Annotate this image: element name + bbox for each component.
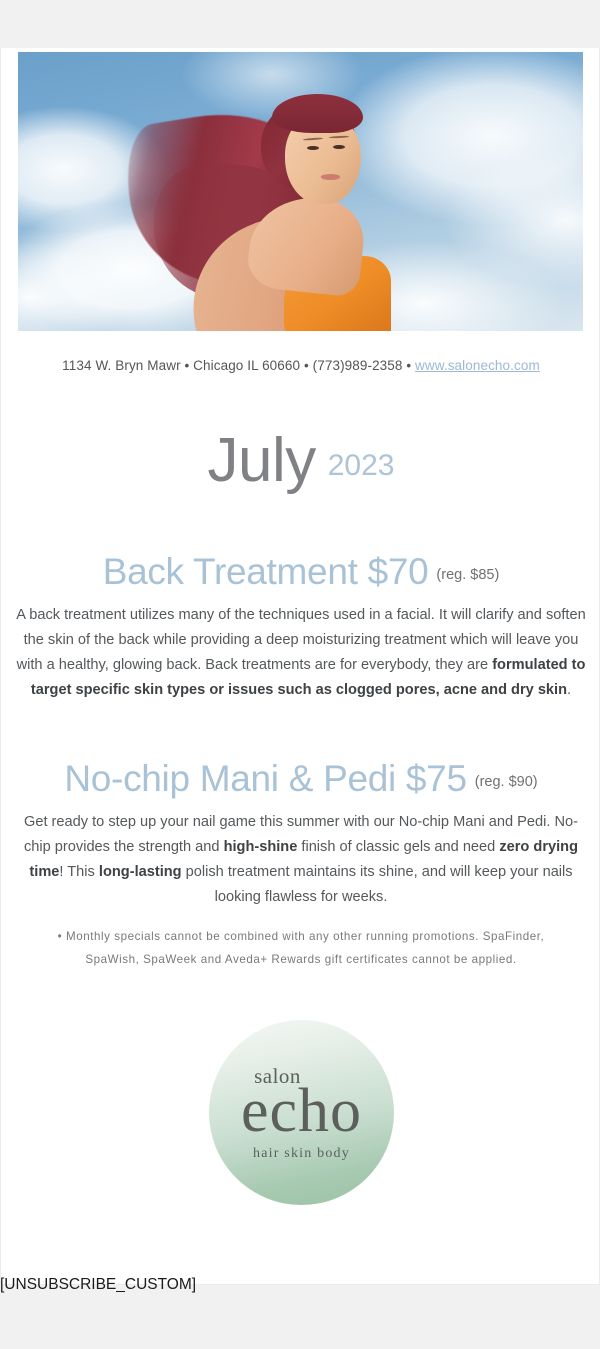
hero-lips [321, 174, 340, 180]
fineprint-disclaimer: • Monthly specials cannot be combined wi… [1, 925, 600, 971]
issue-month: July [207, 426, 315, 495]
email-preview-page: 1134 W. Bryn Mawr • Chicago IL 60660 • (… [0, 0, 600, 1349]
contact-address: 1134 W. Bryn Mawr • Chicago IL 60660 • (… [62, 358, 415, 373]
hero-image [18, 52, 583, 331]
logo-tagline: hair skin body [253, 1146, 350, 1162]
offer-regular-price: (reg. $85) [436, 567, 499, 583]
offer-heading: Back Treatment $70(reg. $85) [1, 551, 600, 593]
salon-echo-logo: salon echo hair skin body [209, 1020, 394, 1205]
offer-text-4: polish treatment maintains its shine, an… [182, 864, 573, 905]
logo-echo-text: echo [241, 1080, 362, 1142]
hero-eye-right [333, 145, 345, 149]
unsubscribe-link[interactable]: [UNSUBSCRIBE_CUSTOM] [0, 1276, 196, 1294]
issue-title: July2023 [1, 425, 600, 496]
website-link[interactable]: www.salonecho.com [415, 358, 540, 373]
hero-hair-top [272, 94, 362, 133]
offer-no-chip-mani-pedi: No-chip Mani & Pedi $75(reg. $90) Get re… [1, 758, 600, 910]
hero-sky-background [18, 52, 583, 331]
offer-heading: No-chip Mani & Pedi $75(reg. $90) [1, 758, 600, 800]
offer-text-2: finish of classic gels and need [297, 839, 499, 855]
offer-bold-1: high-shine [224, 839, 298, 855]
offer-regular-price: (reg. $90) [475, 774, 538, 790]
offer-description: A back treatment utilizes many of the te… [1, 603, 600, 703]
hero-eye-left [307, 146, 319, 150]
offer-title: Back Treatment $70 [103, 551, 429, 592]
offer-title: No-chip Mani & Pedi $75 [64, 758, 466, 799]
offer-description: Get ready to step up your nail game this… [1, 810, 600, 910]
offer-bold-3: long-lasting [99, 864, 182, 880]
contact-line: 1134 W. Bryn Mawr • Chicago IL 60660 • (… [1, 358, 600, 373]
offer-text-3: ! This [59, 864, 98, 880]
offer-text-2: . [567, 682, 571, 698]
offer-back-treatment: Back Treatment $70(reg. $85) A back trea… [1, 551, 600, 703]
issue-year: 2023 [328, 449, 395, 482]
email-card: 1134 W. Bryn Mawr • Chicago IL 60660 • (… [0, 48, 600, 1285]
